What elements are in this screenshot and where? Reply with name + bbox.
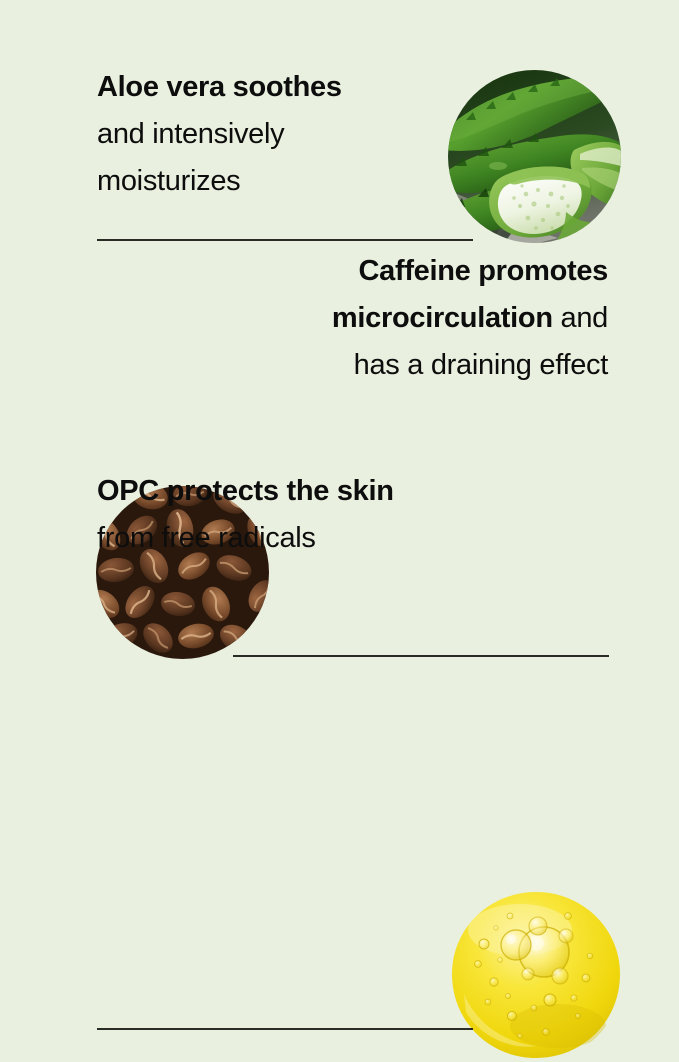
benefit-line: and intensively (97, 111, 342, 158)
benefit-line-regular: and (553, 302, 608, 334)
benefit-text-caffeine: Caffeine promotes microcirculation and h… (332, 248, 608, 389)
benefits-infographic: Aloe vera soothes and intensively moistu… (0, 0, 679, 679)
benefit-line-bold: OPC protects the skin (97, 475, 394, 507)
aloe-vera-photo (448, 70, 621, 243)
benefit-line-bold: microcirculation (332, 302, 553, 334)
benefit-line-regular: has a draining effect (354, 349, 608, 381)
benefit-line-regular: and intensively (97, 118, 284, 150)
benefit-text-aloe: Aloe vera soothes and intensively moistu… (97, 64, 342, 205)
benefit-line: Aloe vera soothes (97, 64, 342, 111)
benefit-line: from free radicals (97, 515, 394, 562)
benefit-block-opc: OPC protects the skin from free radicals (0, 440, 679, 610)
benefit-line: microcirculation and (332, 295, 608, 342)
benefit-line: has a draining effect (332, 342, 608, 389)
oil-droplet-photo (450, 890, 622, 1062)
benefit-line: OPC protects the skin (97, 468, 394, 515)
divider-caffeine (233, 655, 609, 657)
benefit-line-regular: moisturizes (97, 165, 240, 197)
benefit-line-bold: Aloe vera soothes (97, 71, 342, 103)
benefit-text-opc: OPC protects the skin from free radicals (97, 468, 394, 562)
benefit-line-bold: Caffeine promotes (359, 255, 609, 287)
divider-opc (97, 1028, 473, 1030)
benefit-line: moisturizes (97, 158, 342, 205)
benefit-line-regular: from free radicals (97, 522, 316, 554)
benefit-block-caffeine: Caffeine promotes microcirculation and h… (0, 238, 679, 433)
benefit-block-aloe: Aloe vera soothes and intensively moistu… (0, 26, 679, 226)
benefit-line: Caffeine promotes (332, 248, 608, 295)
